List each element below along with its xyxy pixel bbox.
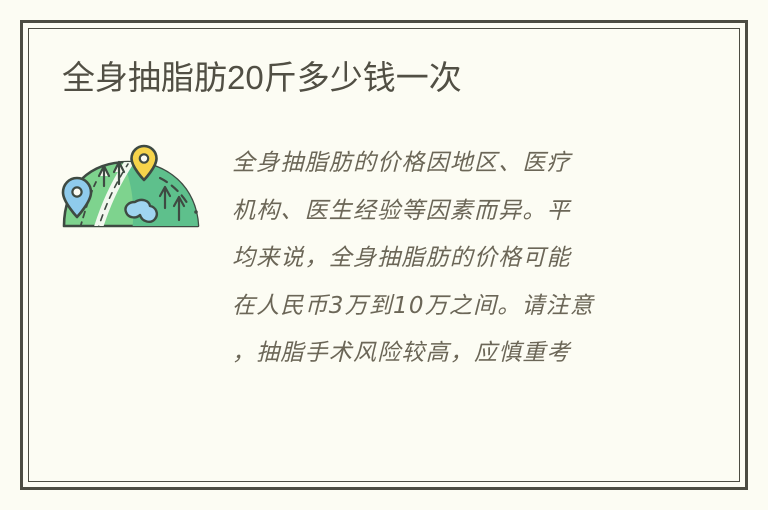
body-line: 均来说，全身抽脂肪的价格可能 (232, 235, 652, 283)
trail-dot (194, 210, 198, 214)
body-line: ，抽脂手术风险较高，应慎重考 (232, 330, 652, 378)
body-line: 全身抽脂肪的价格因地区、医疗 (232, 140, 652, 188)
map-hill-illustration (56, 142, 208, 234)
body-line: 在人民币3万到10万之间。请注意 (232, 283, 652, 331)
body-line: 机构、医生经验等因素而异。平 (232, 188, 652, 236)
article-card: 全身抽脂肪20斤多少钱一次 (0, 0, 768, 510)
page-title: 全身抽脂肪20斤多少钱一次 (62, 58, 462, 98)
article-body-text: 全身抽脂肪的价格因地区、医疗 机构、医生经验等因素而异。平 均来说，全身抽脂肪的… (232, 140, 652, 378)
article-body-row: 全身抽脂肪的价格因地区、医疗 机构、医生经验等因素而异。平 均来说，全身抽脂肪的… (56, 140, 722, 378)
card-content: 全身抽脂肪20斤多少钱一次 (28, 28, 740, 482)
